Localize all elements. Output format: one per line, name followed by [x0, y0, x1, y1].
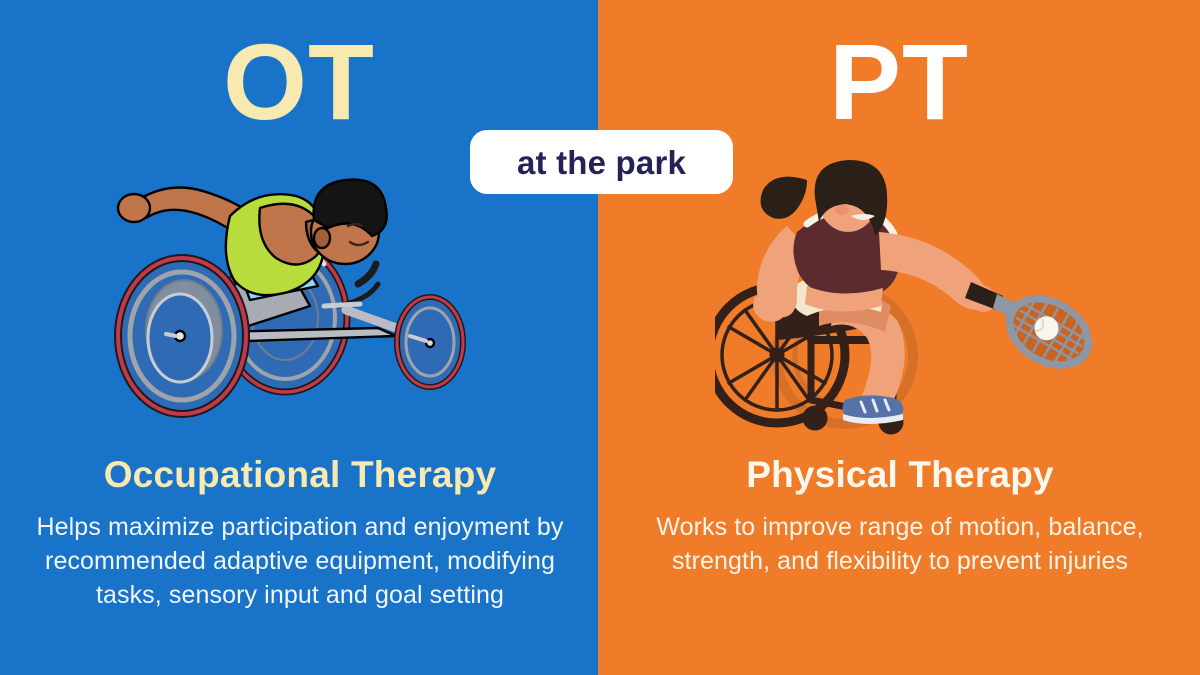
text-block-physical-therapy: Physical Therapy Works to improve range … [630, 455, 1170, 578]
wheel-front [397, 297, 463, 387]
wheel-near [118, 258, 246, 414]
body-occupational-therapy: Helps maximize participation and enjoyme… [20, 510, 580, 612]
racing-wheelchair-athlete-illustration [110, 160, 480, 430]
wheelchair-tennis-svg [715, 160, 1095, 440]
center-badge-label: at the park [517, 146, 686, 179]
body-physical-therapy: Works to improve range of motion, balanc… [630, 510, 1170, 578]
text-block-occupational-therapy: Occupational Therapy Helps maximize part… [20, 455, 580, 612]
shoes [842, 395, 903, 424]
title-occupational-therapy: Occupational Therapy [20, 455, 580, 496]
center-badge: at the park [470, 130, 733, 194]
abbreviation-pt: PT [598, 28, 1200, 136]
infographic-canvas: OT PT at the park [0, 0, 1200, 675]
racing-wheelchair-svg [110, 160, 480, 430]
wheelchair-tennis-player-illustration [715, 160, 1095, 440]
tennis-racket [965, 280, 1095, 383]
title-physical-therapy: Physical Therapy [630, 455, 1170, 496]
abbreviation-ot: OT [0, 28, 598, 136]
